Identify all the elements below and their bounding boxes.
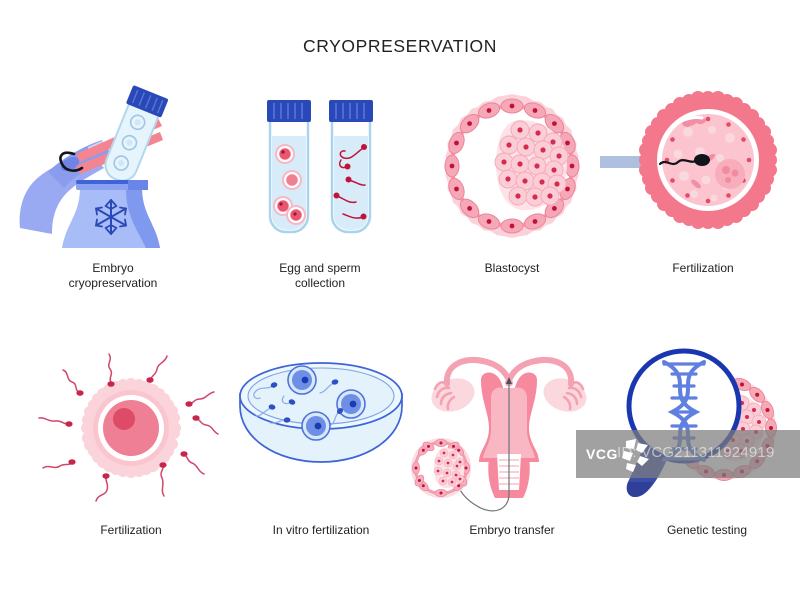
panel-caption: Embryo cryopreservation — [18, 261, 208, 291]
infographic-canvas: CRYOPRESERVATION — [0, 0, 800, 604]
blastocyst-illustration — [417, 88, 607, 253]
petri-dish-illustration — [226, 350, 416, 515]
ivf-egg — [302, 412, 330, 440]
test-tubes-icon — [225, 88, 415, 253]
test-tubes-illustration — [225, 88, 415, 253]
panel-fertilization-icsi: Fertilization — [608, 88, 798, 276]
icsi-needle-egg-icon — [608, 88, 798, 253]
panel-embryo-cryopreservation: Embryo cryopreservation — [18, 88, 208, 291]
egg-cell — [275, 144, 295, 164]
blastocyst-icon — [417, 88, 607, 253]
cryo-tank-icon — [18, 88, 208, 253]
dna-magnifier-illustration — [612, 350, 800, 515]
panel-blastocyst: Blastocyst — [417, 88, 607, 276]
icsi-illustration — [608, 88, 798, 253]
page-title: CRYOPRESERVATION — [0, 36, 800, 57]
panel-embryo-transfer: Embryo transfer — [417, 350, 607, 538]
egg-with-sperm-illustration — [36, 350, 226, 515]
panel-caption: Fertilization — [608, 261, 798, 276]
panel-caption: Genetic testing — [612, 523, 800, 538]
egg-tube — [267, 100, 311, 232]
panel-egg-sperm-collection: Egg and sperm collection — [225, 88, 415, 291]
ivf-egg — [288, 366, 316, 394]
petri-dish-icon — [226, 350, 416, 515]
panel-caption: In vitro fertilization — [226, 523, 416, 538]
ivf-egg — [337, 390, 365, 418]
dna-magnifier-icon — [612, 350, 800, 515]
panel-caption: Fertilization — [36, 523, 226, 538]
cryo-tank-illustration — [18, 88, 208, 253]
uterus-catheter-illustration — [417, 350, 607, 515]
panel-genetic-testing: Genetic testing — [612, 350, 800, 538]
panel-caption: Blastocyst — [417, 261, 607, 276]
panel-in-vitro-fertilization: In vitro fertilization — [226, 350, 416, 538]
panel-fertilization-sperm: Fertilization — [36, 350, 226, 538]
uterus-catheter-icon — [417, 350, 607, 515]
panel-caption: Egg and sperm collection — [225, 261, 415, 291]
egg-cell — [286, 205, 306, 225]
egg-with-sperm-icon — [36, 350, 226, 515]
egg-cell — [282, 170, 302, 190]
inner-cell-mass — [495, 120, 568, 210]
magnifier-lens — [629, 351, 739, 461]
panel-caption: Embryo transfer — [417, 523, 607, 538]
sperm-tube — [329, 100, 373, 232]
